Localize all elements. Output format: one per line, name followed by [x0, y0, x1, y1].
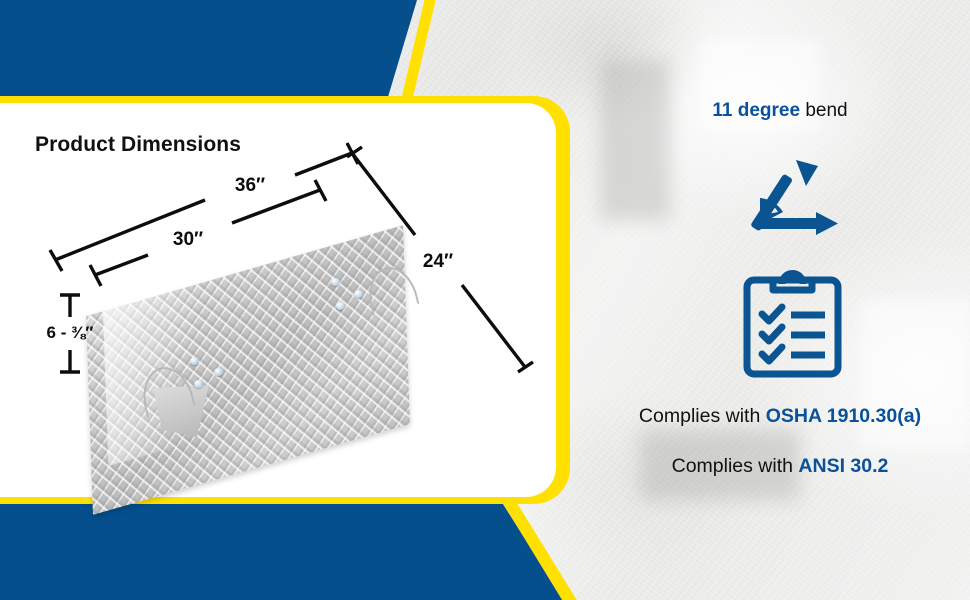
compliance-standard: OSHA 1910.30(a) — [766, 405, 921, 427]
angle-bend-icon — [738, 152, 848, 247]
compliance-prefix: Complies with — [672, 455, 799, 477]
bend-value: 11 degree — [712, 100, 800, 121]
background-shadow-blob — [600, 60, 670, 220]
compliance-line-ansi: Complies with ANSI 30.2 — [590, 455, 970, 478]
compliance-clipboard-icon — [735, 262, 850, 382]
dimension-label-height: 6 - ⅜″ — [47, 323, 94, 342]
bend-callout: 11 degree bend — [590, 100, 970, 122]
blue-panel-bottom — [0, 500, 570, 600]
dimension-label-36: 36″ — [235, 175, 265, 196]
dimension-callouts: 36″ 30″ 24″ 6 - ⅜″ — [0, 95, 580, 425]
compliance-standard: ANSI 30.2 — [798, 455, 888, 477]
dimension-label-30: 30″ — [173, 229, 203, 250]
dimension-label-24: 24″ — [423, 251, 453, 272]
compliance-prefix: Complies with — [639, 405, 766, 427]
bend-suffix: bend — [800, 100, 848, 121]
blue-panel-top — [0, 0, 420, 105]
compliance-line-osha: Complies with OSHA 1910.30(a) — [590, 405, 970, 428]
infographic-canvas: Product Dimensions — [0, 0, 970, 600]
